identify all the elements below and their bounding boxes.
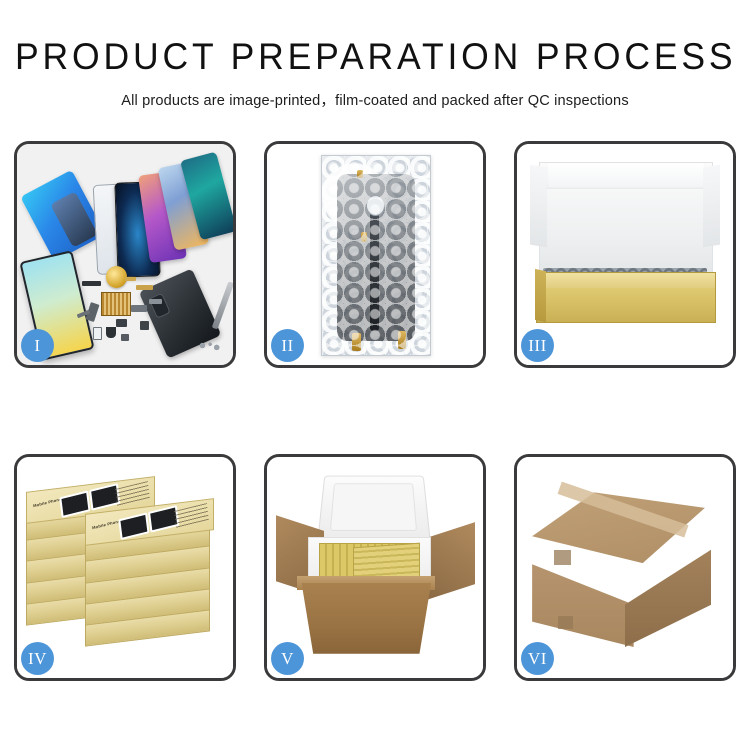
repair-tool bbox=[212, 281, 233, 329]
box-window bbox=[119, 513, 150, 540]
small-part bbox=[149, 299, 162, 304]
lid-flap-left bbox=[530, 165, 547, 247]
step-panel-4[interactable]: Mobile Phone Spare Parts Mobile Phone Sp… bbox=[14, 454, 236, 681]
page-title: PRODUCT PREPARATION PROCESS bbox=[15, 38, 735, 75]
small-part bbox=[140, 321, 149, 330]
box-window-group bbox=[59, 483, 119, 513]
small-part bbox=[125, 277, 136, 281]
small-part bbox=[106, 327, 117, 338]
step-image-3 bbox=[517, 144, 733, 365]
step-image-5 bbox=[267, 457, 483, 678]
step-badge-1: I bbox=[21, 329, 54, 362]
step-panel-2[interactable]: II bbox=[264, 141, 486, 368]
bubble-wrap-bag bbox=[321, 155, 431, 356]
step-badge-5: V bbox=[271, 642, 304, 675]
logic-board-chip bbox=[101, 292, 131, 316]
tape-tab bbox=[554, 550, 571, 565]
step-badge-6: VI bbox=[521, 642, 554, 675]
step-panel-6[interactable]: VI bbox=[514, 454, 736, 681]
step-panel-5[interactable]: V bbox=[264, 454, 486, 681]
carton-front-panel bbox=[302, 583, 432, 654]
step-image-2 bbox=[267, 144, 483, 365]
step-panel-3[interactable]: III bbox=[514, 141, 736, 368]
box-spec-lines bbox=[115, 480, 150, 506]
small-part bbox=[93, 327, 102, 340]
step-image-6 bbox=[517, 457, 733, 678]
kraft-box-side bbox=[535, 269, 546, 322]
page-subtitle: All products are image-printed，film-coat… bbox=[0, 89, 750, 110]
bubble-texture-overlay bbox=[322, 156, 430, 355]
process-steps-grid: I II III bbox=[14, 141, 736, 681]
small-part bbox=[131, 305, 146, 312]
step-badge-4: IV bbox=[21, 642, 54, 675]
step-image-4: Mobile Phone Spare Parts Mobile Phone Sp… bbox=[17, 457, 233, 678]
step-badge-3: III bbox=[521, 329, 554, 362]
kraft-box-base bbox=[536, 272, 715, 323]
page-header: PRODUCT PREPARATION PROCESS All products… bbox=[0, 0, 750, 110]
step-panel-1[interactable]: I bbox=[14, 141, 236, 368]
foam-lid bbox=[317, 476, 430, 541]
lid-flap-right bbox=[703, 165, 720, 247]
step-image-1 bbox=[17, 144, 233, 365]
white-box-lid bbox=[539, 162, 714, 283]
step-badge-2: II bbox=[271, 329, 304, 362]
box-stack: Mobile Phone Spare Parts Mobile Phone Sp… bbox=[26, 484, 225, 661]
small-part bbox=[116, 319, 127, 328]
small-part bbox=[121, 334, 130, 341]
tape-tab bbox=[558, 616, 573, 629]
small-part bbox=[82, 281, 101, 286]
box-window-group bbox=[119, 506, 179, 536]
speaker-component bbox=[106, 266, 128, 288]
small-part bbox=[136, 285, 153, 289]
screws-group bbox=[198, 339, 220, 352]
box-spec-lines bbox=[174, 503, 209, 529]
